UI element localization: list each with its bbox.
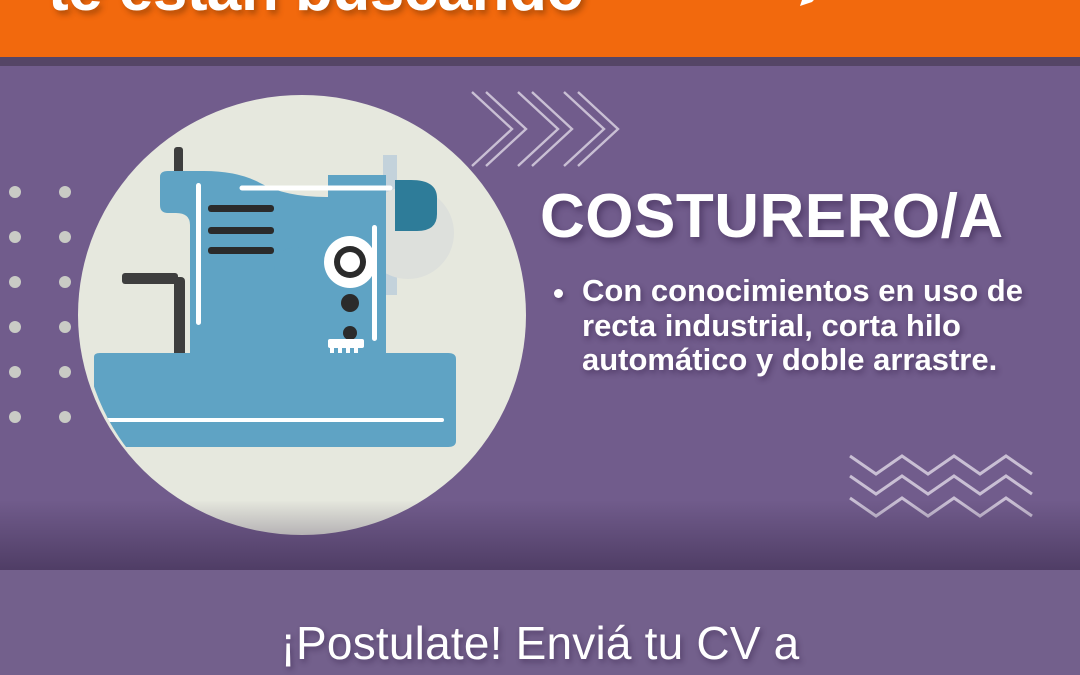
- sewing-machine-icon: [78, 95, 526, 535]
- requirements-list: Con conocimientos en uso de recta indust…: [540, 274, 1040, 378]
- dot: [9, 321, 21, 333]
- pencil-icon: [790, 0, 846, 12]
- banner-underline: [0, 57, 1080, 66]
- chevron-arrows-decoration: [468, 88, 628, 170]
- top-banner-text: te están buscando: [48, 0, 584, 25]
- dot: [9, 366, 21, 378]
- cta-band: ¡Postulate! Enviá tu CV a: [0, 570, 1080, 675]
- dot: [59, 186, 71, 198]
- dot: [9, 231, 21, 243]
- dot: [59, 366, 71, 378]
- cta-text: ¡Postulate! Enviá tu CV a: [0, 614, 1080, 673]
- dot: [59, 231, 71, 243]
- requirement-item: Con conocimientos en uso de recta indust…: [540, 274, 1040, 378]
- band-shadow-gradient: [0, 500, 1080, 570]
- job-posting-poster: COSTURERO/A Con conocimientos en uso de …: [0, 0, 1080, 675]
- dot: [9, 411, 21, 423]
- top-banner: te están buscando: [0, 0, 1080, 57]
- dot: [59, 276, 71, 288]
- dot: [9, 276, 21, 288]
- dot: [59, 321, 71, 333]
- job-title: COSTURERO/A: [540, 186, 1040, 248]
- dot: [9, 186, 21, 198]
- dot: [59, 411, 71, 423]
- job-details-column: COSTURERO/A Con conocimientos en uso de …: [540, 186, 1040, 378]
